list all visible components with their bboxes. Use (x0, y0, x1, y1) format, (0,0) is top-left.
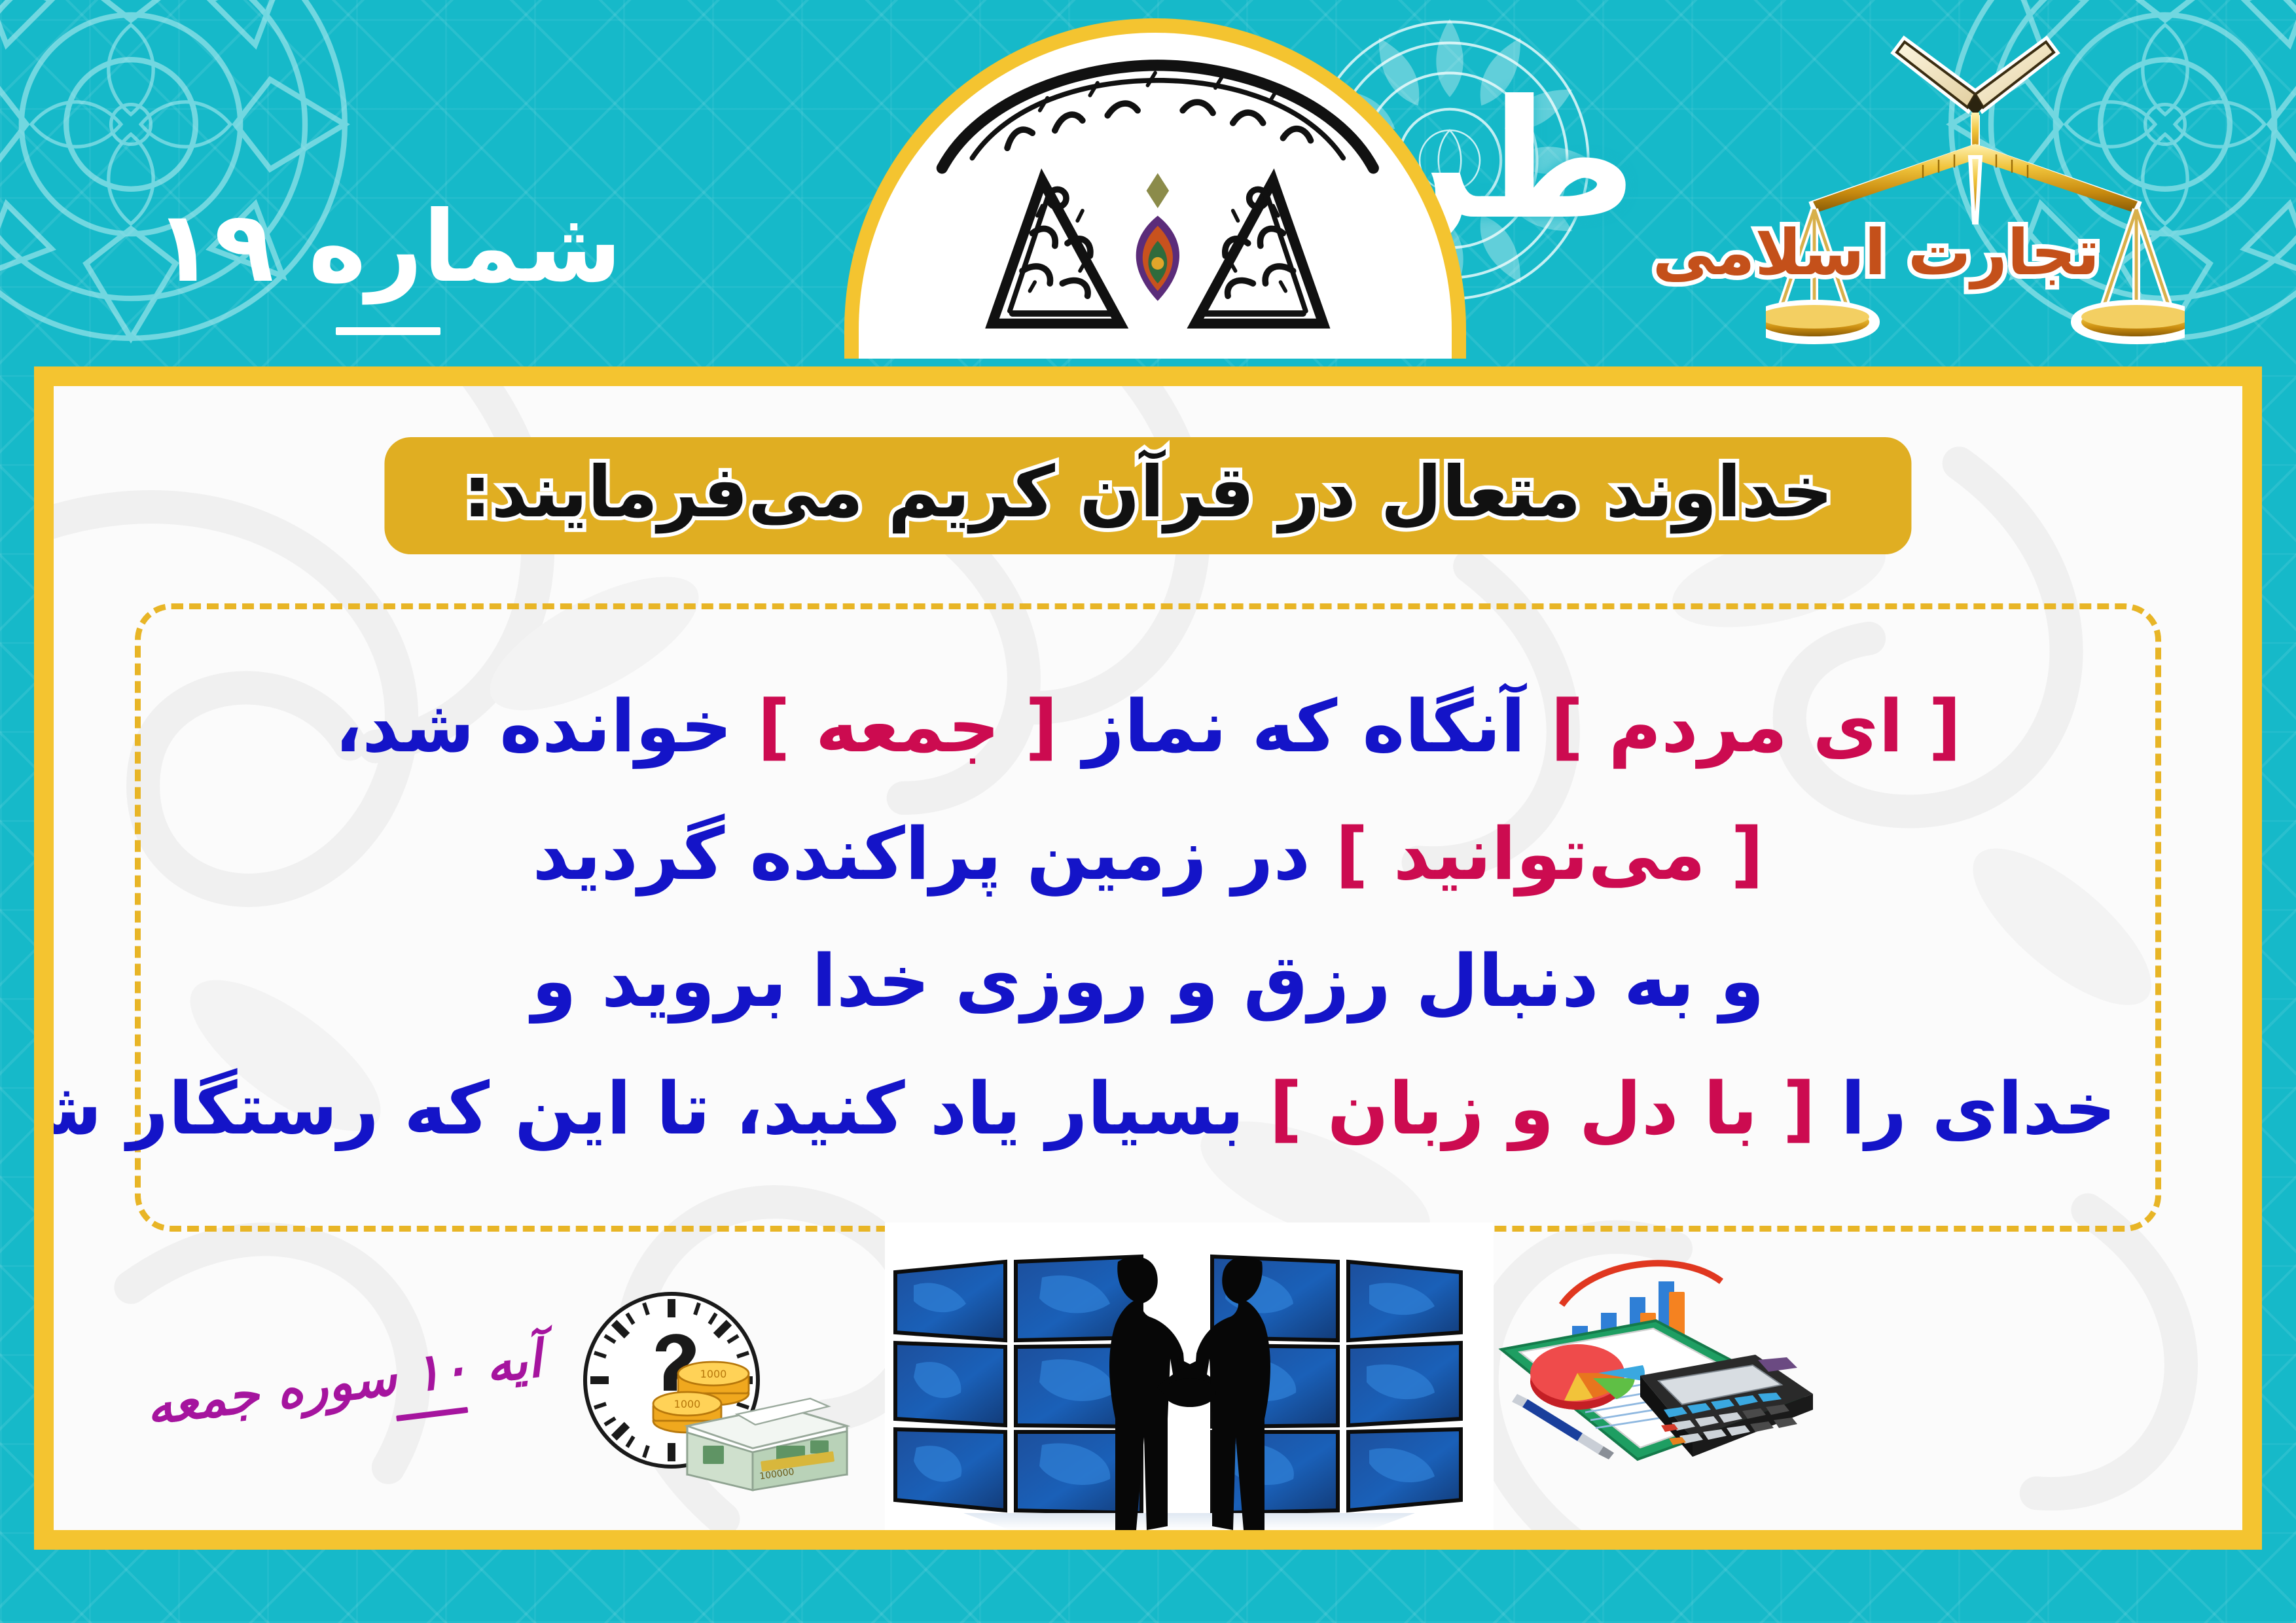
islamic-trade-scales-logo (1766, 13, 2185, 353)
verse-citation-label: آیه ۱۰ سوره جمعه (143, 1329, 545, 1436)
verse-highlight-segment: [ با دل و زبان ] (1269, 1067, 1816, 1150)
verse-segment: خدای را (1816, 1067, 2116, 1150)
verse-line: خدای را [ با دل و زبان ] بسیار یاد کنید،… (180, 1053, 2116, 1165)
issue-underline-rule (336, 327, 440, 335)
verse-segment: در زمین پراکنده گردید (532, 812, 1335, 896)
verse-highlight-segment: [ ای مردم ] (1551, 685, 1962, 768)
brand-label-islamic-trade: تجارت اسلامی (1653, 216, 2100, 289)
content-card-inner: خداوند متعال در قرآن کریم می‌فرمایند: [ … (54, 386, 2242, 1530)
verse-highlight-segment: [ می‌توانید ] (1335, 812, 1763, 896)
verse-line: [ ای مردم ] آنگاه که نماز [ جمعه ] خواند… (180, 671, 2116, 783)
balance-scale-with-quran-icon (1766, 13, 2185, 353)
verse-intro-title-pill: خداوند متعال در قرآن کریم می‌فرمایند: (384, 437, 1911, 554)
verse-highlight-segment: [ جمعه ] (757, 685, 1058, 768)
verse-segment: خوانده شد، (334, 685, 757, 768)
content-card-frame: خداوند متعال در قرآن کریم می‌فرمایند: [ … (34, 366, 2262, 1550)
citation-underline-rule (397, 1407, 469, 1421)
svg-text:1000: 1000 (674, 1398, 701, 1410)
verse-line: [ می‌توانید ] در زمین پراکنده گردید (180, 798, 2116, 910)
verse-line: و به دنبال رزق و روزی خدا بروید و (180, 925, 2116, 1037)
verse-segment: آنگاه که نماز (1058, 685, 1551, 768)
verse-dashed-box: [ ای مردم ] آنگاه که نماز [ جمعه ] خواند… (135, 603, 2161, 1232)
verse-citation-block: آیه ۱۰ سوره جمعه (143, 1329, 547, 1452)
poster-root: طرح شماره ۱۹ (0, 0, 2296, 1623)
verse-intro-title: خداوند متعال در قرآن کریم می‌فرمایند: (463, 454, 1833, 532)
businessmen-handshake-videowall-illustration (885, 1222, 1494, 1530)
issue-number-block: شماره ۱۹ (94, 196, 683, 335)
svg-text:1000: 1000 (700, 1368, 727, 1380)
verse-segment: و به دنبال رزق و روزی خدا بروید و (531, 939, 1764, 1023)
clock-coins-money-illustration: 1000 1000 (551, 1278, 865, 1494)
verse-segment: بسیار یاد کنید، تا این که رستگار شوید. (54, 1067, 1269, 1150)
charts-calculator-clipboard-illustration (1483, 1274, 1823, 1489)
issue-number-label: شماره ۱۹ (94, 196, 683, 300)
